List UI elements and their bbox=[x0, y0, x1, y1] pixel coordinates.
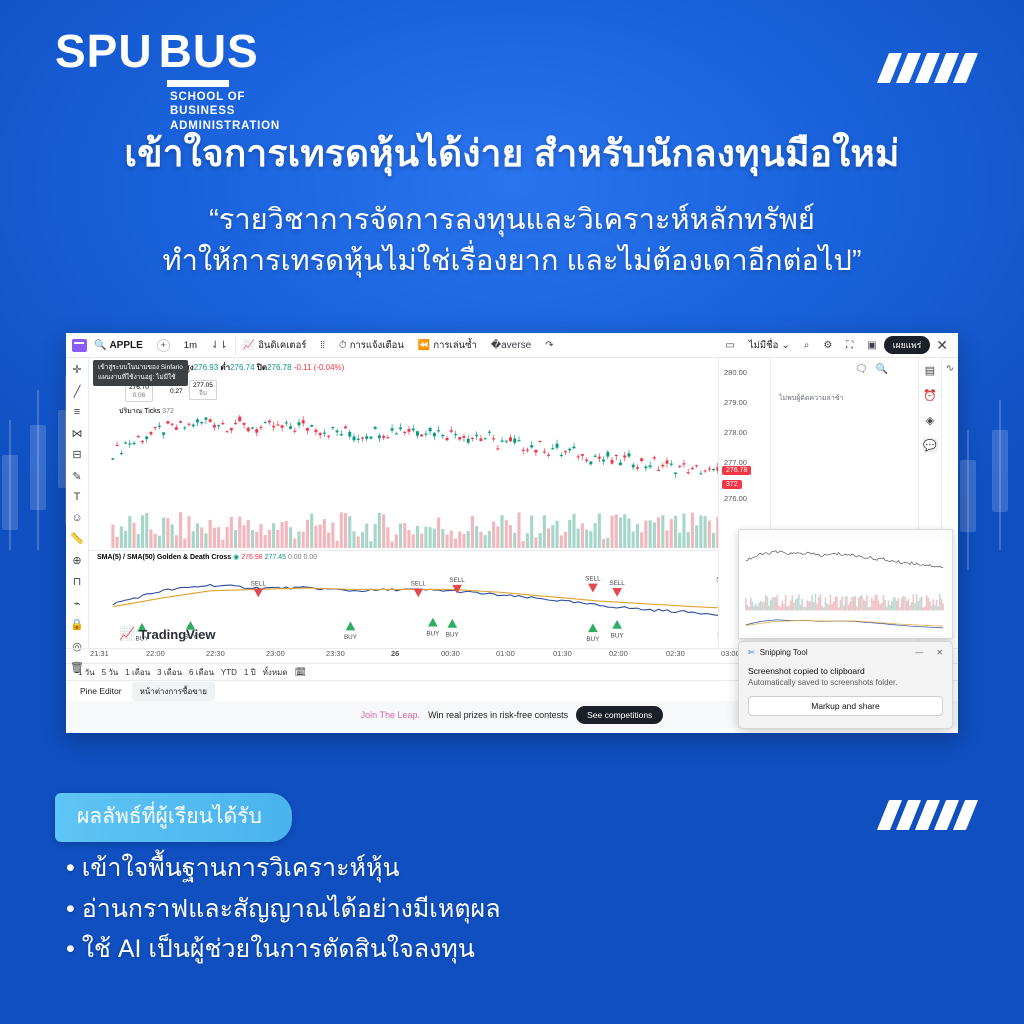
alert-clock-icon: ⏱ bbox=[339, 340, 347, 351]
redo-button[interactable]: ↷ bbox=[538, 336, 560, 355]
side-panel-note: ไม่พบผู้ติดความล่าช้า bbox=[779, 393, 843, 404]
svg-text:BUY: BUY bbox=[446, 632, 460, 639]
chevron-down-icon: ⌄ bbox=[781, 340, 789, 351]
tooltip-line-1: เข้าสู่ระบบในนามของ Sinfario bbox=[98, 363, 183, 373]
chat-icon[interactable]: 💬 bbox=[923, 438, 938, 453]
indicator-templates-icon: ⦙⦙ bbox=[320, 340, 324, 351]
symbol-label: APPLE bbox=[109, 340, 142, 351]
tradingview-watermark-text: TradingView bbox=[139, 627, 215, 642]
slash-decoration-bottom bbox=[883, 800, 972, 830]
brush-icon[interactable]: ✎ bbox=[70, 470, 85, 483]
price-tick-2: 278.00 bbox=[724, 428, 747, 437]
promo-text: Win real prizes in risk-free contests bbox=[428, 710, 568, 720]
camera-icon: ▣ bbox=[867, 340, 876, 351]
logo-underline bbox=[167, 80, 229, 87]
promo-link[interactable]: Join The Leap. bbox=[361, 710, 420, 720]
logo-spu-text: SPU bbox=[55, 28, 159, 74]
svg-text:BUY: BUY bbox=[611, 632, 625, 639]
close-icon[interactable]: ✕ bbox=[928, 648, 943, 657]
redo-icon: ↷ bbox=[545, 340, 553, 351]
subtitle-line-2: ทำให้การเทรดหุ้นไม่ใช่เรื่องยาก และไม่ต้… bbox=[0, 241, 1024, 282]
time-tick-5: 26 bbox=[391, 649, 399, 658]
svg-text:BUY: BUY bbox=[586, 636, 600, 643]
pattern-icon[interactable]: ⋈ bbox=[70, 427, 85, 440]
main-chart-canvas[interactable]: ante ▬ ≡ เปิด276.89 สูง276.93 ต่ำ276.74 … bbox=[89, 358, 718, 648]
emoji-icon[interactable]: ☺ bbox=[70, 512, 85, 524]
snipping-tool-notification: ✄ Snipping Tool — ✕ Screenshot copied to… bbox=[738, 641, 953, 729]
quick-search-icon: ⌕ bbox=[804, 340, 810, 351]
calendar-icon[interactable]: 🗓 bbox=[295, 667, 306, 678]
svg-text:SELL: SELL bbox=[609, 580, 625, 587]
chart-settings-button[interactable]: ⚙ bbox=[816, 336, 839, 355]
price-box-3-value: 277.05 bbox=[193, 382, 213, 390]
svg-text:SELL: SELL bbox=[251, 581, 267, 588]
range-all[interactable]: ทั้งหมด bbox=[263, 666, 288, 679]
tradingview-logo-icon bbox=[72, 339, 87, 352]
poster-canvas: SPU BUS SCHOOL OF BUSINESS ADMINISTRATIO… bbox=[0, 0, 1024, 1024]
snapshot-button[interactable]: ▣ bbox=[860, 336, 883, 355]
candlestick-series bbox=[109, 390, 749, 508]
layers-icon[interactable]: ◈ bbox=[923, 413, 938, 428]
results-pill: ผลลัพธ์ที่ผู้เรียนได้รับ bbox=[55, 793, 292, 842]
chart-thumbnail-preview[interactable] bbox=[738, 529, 953, 639]
time-tick-7: 01:00 bbox=[496, 649, 515, 658]
quick-search-button[interactable]: ⌕ bbox=[797, 336, 817, 355]
spu-bus-logo: SPU BUS SCHOOL OF BUSINESS ADMINISTRATIO… bbox=[55, 28, 259, 74]
time-tick-1: 22:00 bbox=[146, 649, 165, 658]
logo-wordmark: SPU BUS bbox=[55, 28, 259, 74]
layout-name-label: ไม่มีชื่อ bbox=[749, 338, 778, 353]
svg-text:BUY: BUY bbox=[344, 634, 358, 641]
ruler-icon[interactable]: 📏 bbox=[70, 532, 85, 545]
close-value: 276.78 bbox=[267, 363, 291, 372]
measure-icon[interactable]: ⌁ bbox=[70, 597, 85, 610]
list-item: • ใช้ AI เป็นผู้ช่วยในการตัดสินใจลงทุน bbox=[66, 929, 501, 970]
range-ytd[interactable]: YTD bbox=[221, 668, 237, 677]
trendline-icon[interactable]: ╱ bbox=[70, 385, 85, 398]
publish-button[interactable]: เผยแพร่ bbox=[884, 336, 931, 354]
magnet-icon[interactable]: ⊓ bbox=[70, 575, 85, 588]
list-item: • อ่านกราฟและสัญญาณได้อย่างมีเหตุผล bbox=[66, 889, 501, 930]
time-tick-6: 00:30 bbox=[441, 649, 460, 658]
side-panel-header: 🗨 🔍 bbox=[855, 364, 888, 375]
horizontal-line-icon[interactable]: ≡ bbox=[70, 406, 85, 418]
tooltip-line-2: แผนงานที่ใช้งานอยู่: ไม่มีใช้ bbox=[98, 373, 183, 383]
alerts-clock-icon[interactable]: ⏰ bbox=[923, 388, 938, 403]
zoom-icon[interactable]: ⊕ bbox=[70, 554, 85, 567]
range-5d[interactable]: 5 วัน bbox=[102, 666, 119, 679]
page-title: เข้าใจการเทรดหุ้นได้ง่าย สำหรับนักลงทุนม… bbox=[0, 124, 1024, 183]
subtitle-line-1: “รายวิชาการจัดการลงทุนและวิเคราะห์หลักทร… bbox=[0, 200, 1024, 241]
snip-icon: ✄ bbox=[748, 648, 755, 657]
tradingview-logo-mark: 📈 bbox=[119, 626, 135, 642]
layout-button[interactable]: ▭ bbox=[718, 336, 741, 355]
alerts-label: การแจ้งเตือน bbox=[350, 338, 404, 353]
plus-icon: + bbox=[157, 339, 170, 352]
svg-text:BUY: BUY bbox=[426, 630, 440, 637]
range-6m[interactable]: 6 เดือน bbox=[189, 666, 214, 679]
fullscreen-button[interactable]: ⛶ bbox=[839, 336, 860, 355]
thumbnail-chart bbox=[739, 530, 952, 638]
undo-button[interactable]: �averse bbox=[484, 336, 538, 355]
replay-icon: ⏪ bbox=[418, 340, 430, 351]
current-volume-badge: 372 bbox=[722, 480, 742, 489]
price-tick-4: 276.00 bbox=[724, 494, 747, 503]
note-add-icon[interactable]: 🗨 bbox=[855, 364, 868, 375]
markup-and-share-button[interactable]: Markup and share bbox=[748, 696, 943, 716]
crosshair-icon[interactable]: ✛ bbox=[70, 363, 85, 376]
current-price-badge: 276.78 bbox=[722, 466, 751, 475]
high-value: 276.93 bbox=[194, 363, 218, 372]
indicator-templates-button[interactable]: ⦙⦙ bbox=[313, 336, 331, 355]
indicators-button[interactable]: 📈 อินดิเคเตอร์ bbox=[235, 336, 314, 355]
search-icon: 🔍 bbox=[94, 340, 106, 351]
tab-trading-panel[interactable]: หน้าต่างการซื้อขาย bbox=[132, 682, 215, 701]
range-1m[interactable]: 1 เดือน bbox=[125, 666, 150, 679]
interval-selector[interactable]: 1m bbox=[177, 336, 204, 355]
tradingview-screenshot: 🔍 APPLE + 1m ⇃⇂ 📈 อินดิเคเตอร์ ⦙⦙ ⏱ การแ… bbox=[66, 333, 958, 733]
tradingview-toolbar: 🔍 APPLE + 1m ⇃⇂ 📈 อินดิเคเตอร์ ⦙⦙ ⏱ การแ… bbox=[66, 333, 958, 358]
logo-subtitle-line1: SCHOOL OF bbox=[170, 90, 280, 104]
indicators-label: อินดิเคเตอร์ bbox=[258, 338, 306, 353]
time-tick-11: 03:00 bbox=[721, 649, 740, 658]
watchlist-icon[interactable]: ▤ bbox=[923, 363, 938, 378]
gear-icon: ⚙ bbox=[823, 340, 832, 351]
layout-icon: ▭ bbox=[725, 340, 734, 351]
fullscreen-icon: ⛶ bbox=[846, 340, 853, 351]
candles-icon: ⇃⇂ bbox=[211, 340, 228, 351]
time-tick-4: 23:30 bbox=[326, 649, 345, 658]
results-list: • เข้าใจพื้นฐานการวิเคราะห์หุ้น • อ่านกร… bbox=[66, 848, 501, 970]
replay-label: การเล่นซ้ำ bbox=[433, 338, 477, 353]
time-tick-9: 02:00 bbox=[609, 649, 628, 658]
range-3m[interactable]: 3 เดือน bbox=[157, 666, 182, 679]
volume-histogram bbox=[109, 508, 749, 548]
toast-title: Snipping Tool bbox=[760, 648, 808, 657]
interval-label: 1m bbox=[184, 340, 197, 351]
svg-text:SELL: SELL bbox=[449, 577, 465, 584]
drawing-tools-sidebar[interactable]: ✛ ╱ ≡ ⋈ ⊟ ✎ T ☺ 📏 ⊕ ⊓ ⌁ 🔒 ◎ 🗑 bbox=[66, 358, 89, 648]
search-icon[interactable]: 🔍 bbox=[876, 364, 888, 375]
replay-button[interactable]: ⏪ การเล่นซ้ำ bbox=[411, 336, 484, 355]
minimize-icon[interactable]: — bbox=[915, 648, 923, 657]
tradingview-watermark: 📈 TradingView bbox=[119, 626, 216, 642]
text-icon[interactable]: T bbox=[70, 491, 85, 503]
toast-message-primary: Screenshot copied to clipboard bbox=[748, 666, 943, 676]
change-value: -0.11 (-0.04%) bbox=[294, 363, 345, 372]
indicators-icon: 📈 bbox=[243, 340, 255, 351]
tab-pine-editor[interactable]: Pine Editor bbox=[80, 686, 122, 696]
undo-icon: �averse bbox=[491, 340, 531, 351]
price-tick-0: 280.00 bbox=[724, 368, 747, 377]
time-tick-3: 23:00 bbox=[266, 649, 285, 658]
price-tick-1: 279.00 bbox=[724, 398, 747, 407]
see-competitions-button[interactable]: See competitions bbox=[576, 706, 663, 724]
svg-text:SELL: SELL bbox=[585, 576, 601, 583]
time-tick-8: 01:30 bbox=[553, 649, 572, 658]
time-tick-2: 22:30 bbox=[206, 649, 225, 658]
time-tick-0: 21:31 bbox=[90, 649, 109, 658]
page-subtitle: “รายวิชาการจัดการลงทุนและวิเคราะห์หลักทร… bbox=[0, 200, 1024, 282]
layout-name-selector[interactable]: ไม่มีชื่อ ⌄ bbox=[742, 336, 797, 355]
svg-text:SELL: SELL bbox=[411, 581, 427, 588]
lock-icon[interactable]: 🔒 bbox=[70, 618, 85, 631]
list-item: • เข้าใจพื้นฐานการวิเคราะห์หุ้น bbox=[66, 848, 501, 889]
close-label: ปิด bbox=[257, 363, 267, 372]
fib-retracement-icon[interactable]: ⊟ bbox=[70, 448, 85, 461]
low-value: 276.74 bbox=[230, 363, 254, 372]
time-tick-10: 02:30 bbox=[666, 649, 685, 658]
logo-bus-text: BUS bbox=[159, 28, 259, 74]
toast-header: ✄ Snipping Tool — ✕ bbox=[748, 648, 943, 657]
account-tooltip: เข้าสู่ระบบในนามของ Sinfario แผนงานที่ใช… bbox=[93, 360, 188, 386]
chart-style-button[interactable]: ⇃⇂ bbox=[204, 336, 235, 355]
add-symbol-button[interactable]: + bbox=[150, 336, 177, 355]
toast-message-secondary: Automatically saved to screenshots folde… bbox=[748, 678, 943, 687]
range-1y[interactable]: 1 ปี bbox=[244, 666, 256, 679]
symbol-search[interactable]: 🔍 APPLE bbox=[87, 336, 150, 355]
close-icon[interactable]: ✕ bbox=[930, 337, 954, 354]
slash-decoration-top bbox=[883, 53, 972, 83]
alerts-button[interactable]: ⏱ การแจ้งเตือน bbox=[332, 336, 411, 355]
low-label: ต่ำ bbox=[220, 363, 230, 372]
